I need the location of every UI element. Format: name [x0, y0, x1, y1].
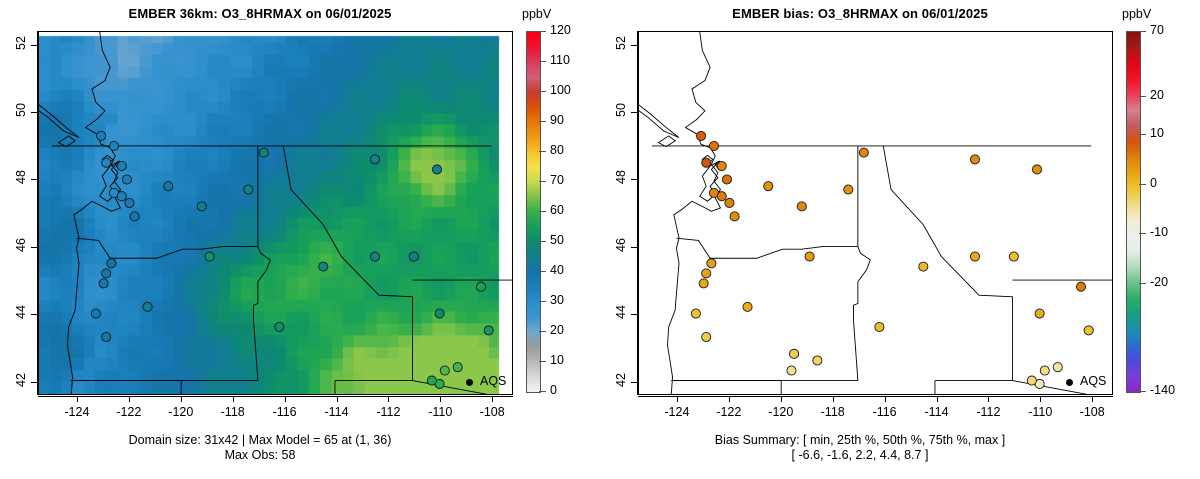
observation-marker [709, 141, 718, 150]
colorbar-tick-label: 50 [550, 233, 564, 247]
x-axis-tick [285, 396, 286, 402]
x-axis-tick-label: -124 [52, 405, 102, 419]
y-axis-tick [631, 314, 637, 315]
observation-marker [717, 161, 726, 170]
y-axis-tick-label: 52 [2, 36, 28, 50]
model-colorbar-gradient [526, 31, 541, 393]
colorbar-tick-label: 80 [550, 143, 564, 157]
model-caption-line2: Max Obs: 58 [0, 448, 520, 463]
x-axis-tick-label: -108 [467, 405, 517, 419]
y-axis-tick [631, 382, 637, 383]
observation-marker [117, 192, 126, 201]
y-axis-tick-label: 52 [602, 36, 628, 50]
observation-marker [707, 259, 716, 268]
model-aqs-legend-label: AQS [480, 374, 506, 388]
observation-marker [102, 269, 111, 278]
colorbar-tick-label: 0 [1150, 176, 1157, 190]
x-axis-tick [937, 396, 938, 402]
x-axis-tick-label: -120 [756, 405, 806, 419]
observation-marker [919, 262, 928, 271]
colorbar-tick-label: 10 [550, 353, 564, 367]
observation-marker [453, 363, 462, 372]
x-axis-tick [781, 396, 782, 402]
colorbar-tick-label: 60 [550, 203, 564, 217]
x-axis-tick-label: -110 [415, 405, 465, 419]
observation-marker [102, 158, 111, 167]
observation-marker [1053, 363, 1062, 372]
y-axis-tick-label: 48 [2, 170, 28, 184]
observation-marker [164, 182, 173, 191]
observation-marker [1027, 376, 1036, 385]
y-axis-tick [31, 179, 37, 180]
observation-marker [722, 175, 731, 184]
x-axis-tick-label: -110 [1015, 405, 1065, 419]
y-axis-tick [631, 45, 637, 46]
observation-marker [91, 309, 100, 318]
observation-marker [699, 279, 708, 288]
bias-colorbar-gradient [1126, 31, 1141, 393]
colorbar-tick [539, 271, 546, 272]
observation-marker [435, 309, 444, 318]
colorbar-tick-label: 0 [550, 383, 557, 397]
colorbar-tick [539, 331, 546, 332]
bias-aqs-legend-marker [1066, 379, 1073, 386]
x-axis-tick [440, 396, 441, 402]
model-aqs-legend-marker [466, 379, 473, 386]
x-axis-tick-label: -122 [104, 405, 154, 419]
bias-map-overlay [639, 32, 1112, 394]
observation-marker [370, 252, 379, 261]
observation-marker [205, 252, 214, 261]
observation-marker [1040, 366, 1049, 375]
model-y-axis-line [37, 31, 38, 395]
observation-marker [970, 155, 979, 164]
colorbar-tick [1139, 31, 1146, 32]
x-axis-tick [492, 396, 493, 402]
observation-marker [109, 141, 118, 150]
observation-marker [244, 185, 253, 194]
x-axis-tick [1040, 396, 1041, 402]
colorbar-tick [1139, 391, 1146, 392]
observation-marker [107, 259, 116, 268]
y-axis-tick-label: 48 [602, 170, 628, 184]
panel-model: EMBER 36km: O3_8HRMAX on 06/01/2025 -124… [0, 0, 600, 479]
panel-bias-title: EMBER bias: O3_8HRMAX on 06/01/2025 [600, 6, 1120, 21]
observation-marker [1009, 252, 1018, 261]
y-axis-tick [31, 45, 37, 46]
y-axis-tick-label: 42 [602, 373, 628, 387]
colorbar-tick [1139, 233, 1146, 234]
colorbar-tick [539, 361, 546, 362]
colorbar-tick [1139, 283, 1146, 284]
bias-colorbar-units: ppbV [1122, 7, 1151, 21]
x-axis-tick-label: -120 [156, 405, 206, 419]
x-axis-tick [388, 396, 389, 402]
colorbar-tick-label: 20 [550, 323, 564, 337]
observation-marker [1084, 326, 1093, 335]
observation-marker [143, 302, 152, 311]
bias-y-axis-line [637, 31, 638, 395]
colorbar-tick-label: 10 [1150, 126, 1164, 140]
observation-marker [319, 262, 328, 271]
x-axis-tick [988, 396, 989, 402]
colorbar-tick-label: 70 [1150, 23, 1164, 37]
panel-model-title: EMBER 36km: O3_8HRMAX on 06/01/2025 [0, 6, 520, 21]
x-axis-tick-label: -112 [963, 405, 1013, 419]
colorbar-tick-label: -140 [1150, 383, 1175, 397]
observation-marker [764, 182, 773, 191]
observation-marker [409, 252, 418, 261]
observation-marker [259, 148, 268, 157]
colorbar-tick-label: 70 [550, 173, 564, 187]
x-axis-tick [833, 396, 834, 402]
x-axis-tick [677, 396, 678, 402]
x-axis-tick-label: -116 [260, 405, 310, 419]
y-axis-tick-label: 46 [602, 238, 628, 252]
colorbar-tick-label: 100 [550, 83, 571, 97]
colorbar-tick [1139, 184, 1146, 185]
y-axis-tick [31, 314, 37, 315]
colorbar-tick-label: 90 [550, 113, 564, 127]
y-axis-tick [31, 382, 37, 383]
observation-marker [102, 332, 111, 341]
colorbar-tick-label: 20 [1150, 88, 1164, 102]
model-caption-line1: Domain size: 31x42 | Max Model = 65 at (… [0, 433, 520, 448]
colorbar-tick [539, 241, 546, 242]
x-axis-tick [885, 396, 886, 402]
observation-marker [789, 349, 798, 358]
colorbar-tick [1139, 134, 1146, 135]
observation-marker [691, 309, 700, 318]
model-x-axis-line [38, 396, 513, 397]
colorbar-tick-label: 40 [550, 263, 564, 277]
x-axis-tick [77, 396, 78, 402]
colorbar-tick-label: 110 [550, 53, 570, 67]
colorbar-tick [539, 61, 546, 62]
bias-aqs-legend-label: AQS [1080, 374, 1106, 388]
colorbar-tick-label: 120 [550, 23, 571, 37]
y-axis-tick-label: 44 [2, 305, 28, 319]
x-axis-tick-label: -116 [860, 405, 910, 419]
model-map-overlay [39, 32, 512, 394]
observation-marker [844, 185, 853, 194]
observation-marker [370, 155, 379, 164]
x-axis-tick-label: -118 [208, 405, 258, 419]
y-axis-tick-label: 46 [2, 238, 28, 252]
observation-marker [805, 252, 814, 261]
observation-marker [440, 366, 449, 375]
y-axis-tick [631, 179, 637, 180]
bias-x-axis-line [638, 396, 1113, 397]
observation-marker [787, 366, 796, 375]
panel-model-plot-area [38, 31, 513, 395]
x-axis-tick [729, 396, 730, 402]
observation-marker [117, 161, 126, 170]
observation-marker [432, 165, 441, 174]
x-axis-tick-label: -112 [363, 405, 413, 419]
model-colorbar-units: ppbV [522, 7, 551, 21]
observation-marker [484, 326, 493, 335]
observation-marker [797, 202, 806, 211]
x-axis-tick-label: -114 [312, 405, 362, 419]
observation-marker [743, 302, 752, 311]
colorbar-tick [539, 91, 546, 92]
observation-marker [427, 376, 436, 385]
observation-marker [717, 192, 726, 201]
observation-marker [702, 158, 711, 167]
colorbar-tick [539, 301, 546, 302]
observation-marker [970, 252, 979, 261]
observation-marker [725, 198, 734, 207]
panel-bias-plot-area [638, 31, 1113, 395]
observation-marker [1076, 282, 1085, 291]
observation-marker [122, 175, 131, 184]
observation-marker [696, 131, 705, 140]
bias-caption-line2: [ -6.6, -1.6, 2.2, 4.4, 8.7 ] [600, 448, 1120, 463]
x-axis-tick-label: -118 [808, 405, 858, 419]
observation-marker [1032, 165, 1041, 174]
observation-marker [859, 148, 868, 157]
colorbar-tick [539, 121, 546, 122]
bias-caption-line1: Bias Summary: [ min, 25th %, 50th %, 75t… [600, 433, 1120, 448]
y-axis-tick [31, 112, 37, 113]
x-axis-tick-label: -108 [1067, 405, 1117, 419]
colorbar-tick-label: -10 [1150, 225, 1168, 239]
colorbar-tick [539, 211, 546, 212]
observation-marker [130, 212, 139, 221]
observation-marker [730, 212, 739, 221]
y-axis-tick-label: 50 [602, 103, 628, 117]
y-axis-tick-label: 42 [2, 373, 28, 387]
observation-marker [702, 332, 711, 341]
observation-marker [275, 322, 284, 331]
panel-bias: EMBER bias: O3_8HRMAX on 06/01/2025 -124… [600, 0, 1200, 479]
y-axis-tick-label: 50 [2, 103, 28, 117]
x-axis-tick-label: -124 [652, 405, 702, 419]
observation-marker [96, 131, 105, 140]
observation-marker [476, 282, 485, 291]
x-axis-tick [233, 396, 234, 402]
x-axis-tick [1092, 396, 1093, 402]
observation-marker [197, 202, 206, 211]
observation-marker [1035, 309, 1044, 318]
x-axis-tick [129, 396, 130, 402]
colorbar-tick [539, 31, 546, 32]
y-axis-tick [631, 112, 637, 113]
observation-marker [702, 269, 711, 278]
observation-marker [875, 322, 884, 331]
y-axis-tick-label: 44 [602, 305, 628, 319]
y-axis-tick [631, 247, 637, 248]
x-axis-tick-label: -114 [912, 405, 962, 419]
colorbar-tick [539, 151, 546, 152]
colorbar-tick [1139, 96, 1146, 97]
x-axis-tick-label: -122 [704, 405, 754, 419]
x-axis-tick [181, 396, 182, 402]
y-axis-tick [31, 247, 37, 248]
observation-marker [813, 356, 822, 365]
observation-marker [125, 198, 134, 207]
colorbar-tick-label: -20 [1150, 275, 1168, 289]
observation-marker [99, 279, 108, 288]
colorbar-tick [539, 181, 546, 182]
x-axis-tick [337, 396, 338, 402]
colorbar-tick-label: 30 [550, 293, 564, 307]
colorbar-tick [539, 391, 546, 392]
